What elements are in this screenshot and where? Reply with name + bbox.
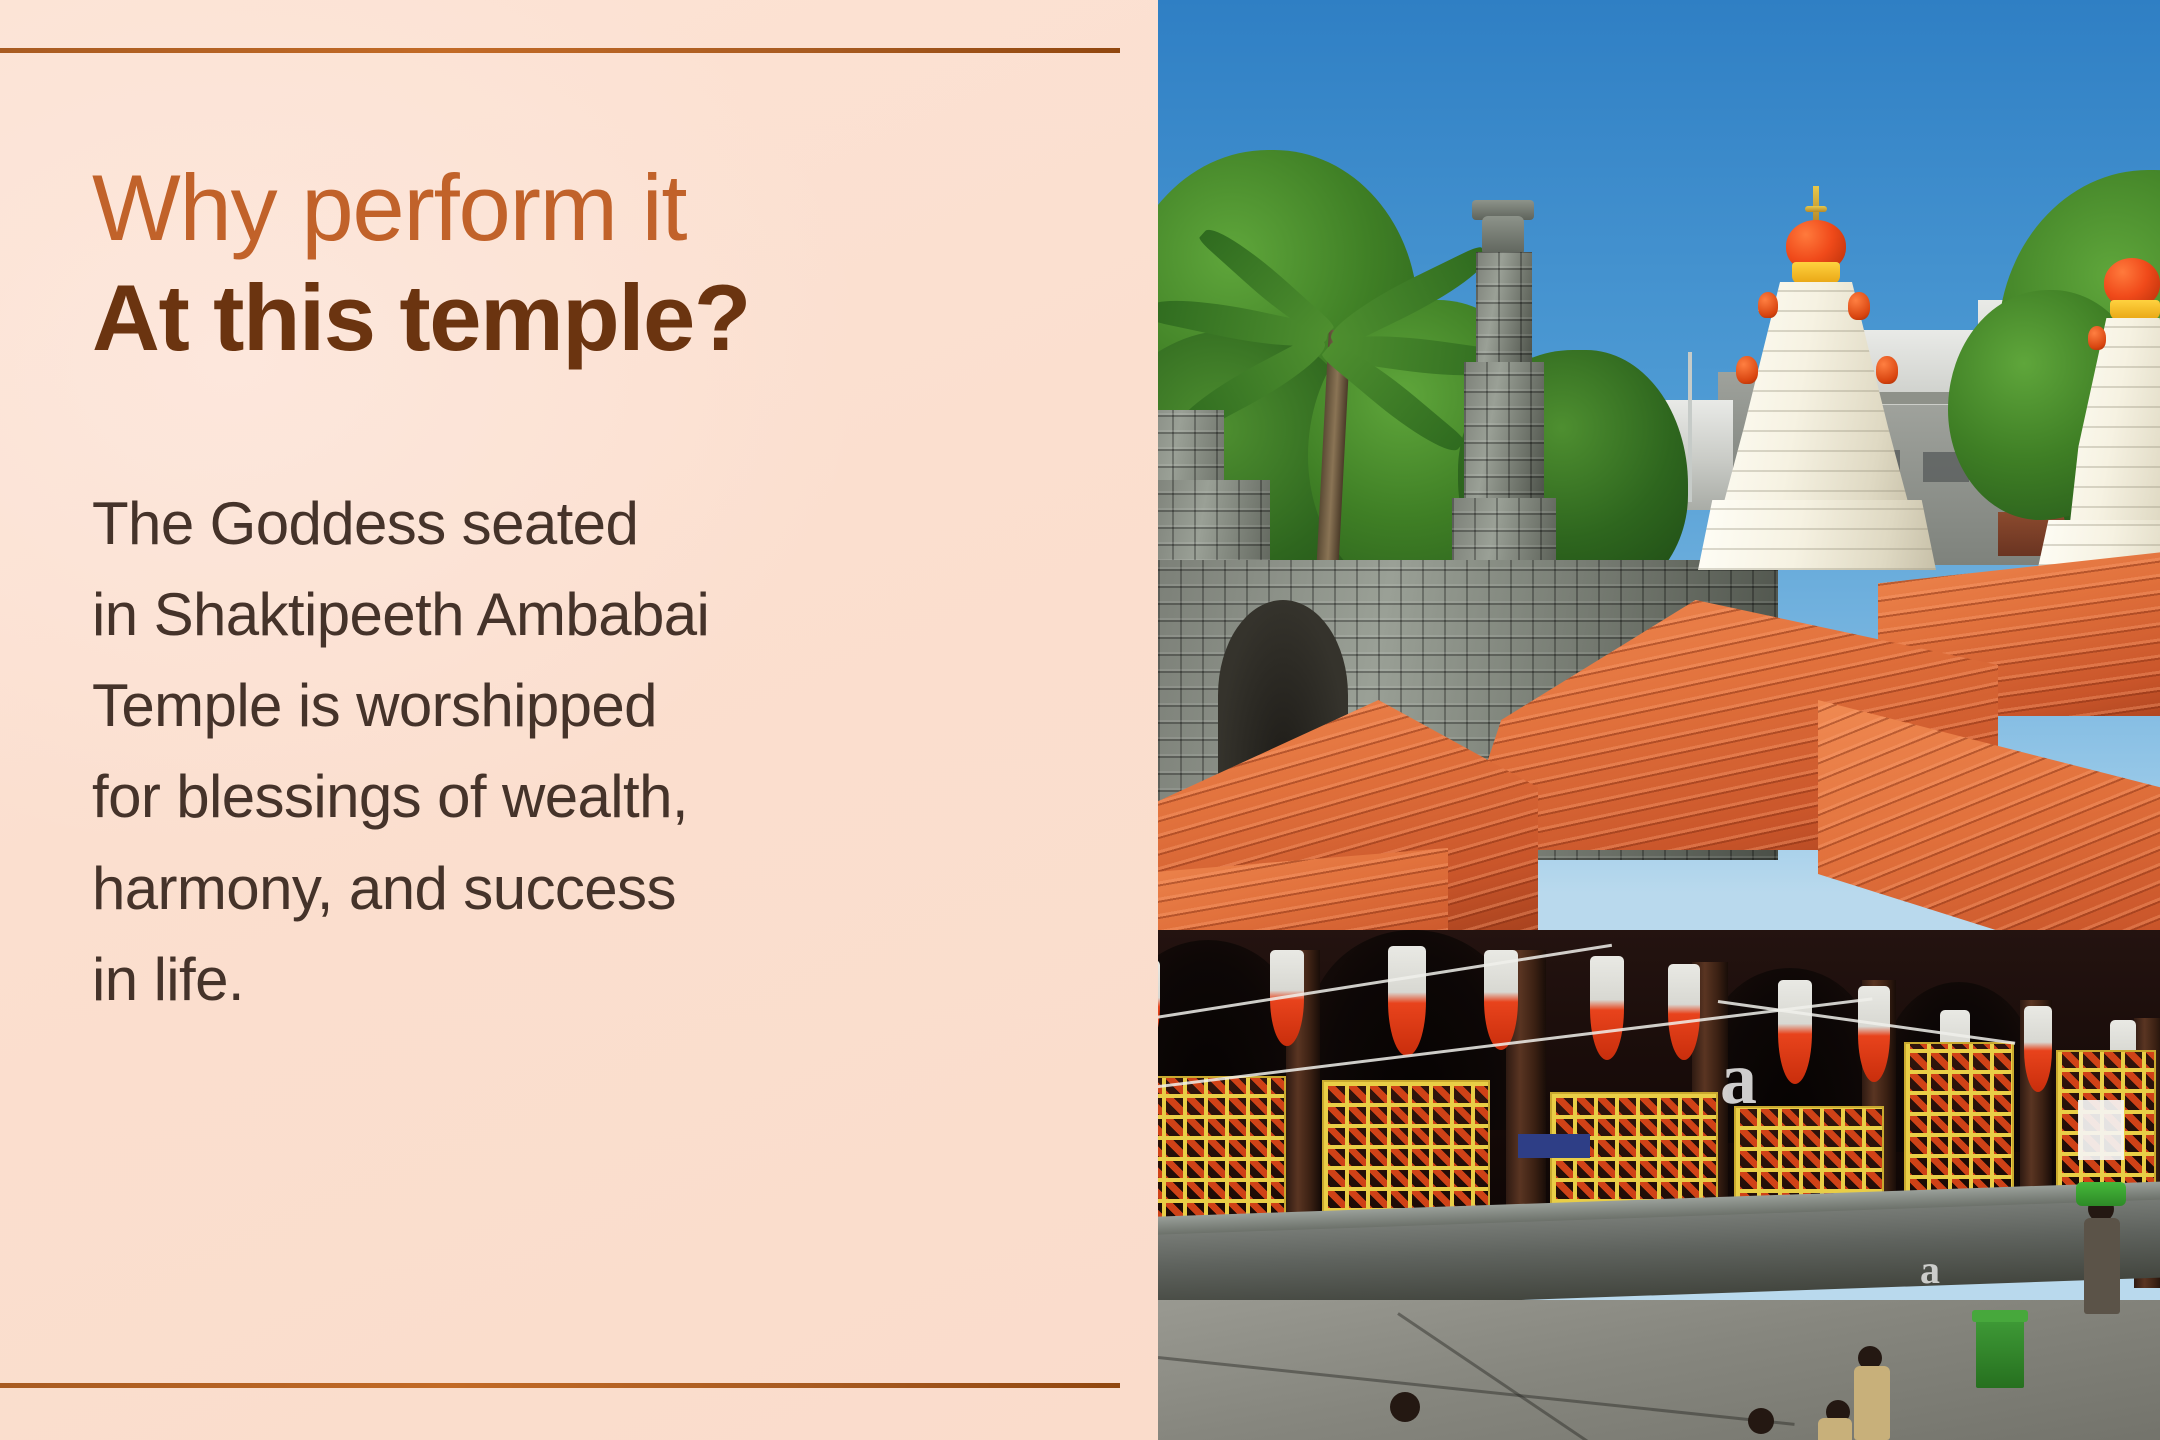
body-line: The Goddess seated — [92, 478, 1092, 569]
body-line: Temple is worshipped — [92, 660, 1092, 751]
waste-bin-lid — [1972, 1310, 2028, 1322]
lattice-grille — [1158, 1076, 1286, 1226]
person — [1818, 1418, 1852, 1440]
lattice-grille — [1904, 1042, 2014, 1202]
shikhara-corner-finial — [1758, 292, 1778, 318]
deepmala-pillar — [1476, 252, 1532, 372]
cloth-hanging — [1590, 956, 1624, 1060]
watermark-letter: a — [1720, 1042, 1757, 1116]
top-divider-rule — [0, 48, 1120, 53]
person — [1390, 1392, 1420, 1422]
shikhara-corner-finial — [1848, 292, 1870, 320]
deepmala-pillar — [1464, 362, 1544, 512]
shikhara-corner-finial — [1736, 356, 1758, 384]
cloth-hanging — [2024, 1006, 2052, 1092]
cloth-hanging — [1778, 980, 1812, 1084]
body-line: in Shaktipeeth Ambabai — [92, 569, 1092, 660]
heading-line-2: At this temple? — [92, 270, 1092, 366]
shikhara-kalash-band — [1792, 262, 1840, 284]
bottom-divider-rule — [0, 1383, 1120, 1388]
cloth-hanging — [1388, 946, 1426, 1056]
cloth-hanging — [1668, 964, 1700, 1060]
temple-photograph: a a — [1158, 0, 2160, 1440]
watermark-letter-small: a — [1920, 1246, 1940, 1293]
waste-bin — [1976, 1318, 2024, 1388]
body-line: harmony, and success — [92, 843, 1092, 934]
text-block: Why perform it At this temple? The Godde… — [92, 160, 1092, 1025]
slide-root: Why perform it At this temple? The Godde… — [0, 0, 2160, 1440]
left-text-panel: Why perform it At this temple? The Godde… — [0, 0, 1158, 1440]
pillar-finial — [1482, 216, 1524, 256]
shikhara-spire-disc — [1805, 206, 1827, 212]
person-headload — [2076, 1182, 2126, 1206]
heading-line-1: Why perform it — [92, 160, 1092, 256]
page-title: Why perform it At this temple? — [92, 160, 1092, 366]
person — [2084, 1218, 2120, 1314]
person — [1854, 1366, 1890, 1440]
body-line: in life. — [92, 934, 1092, 1025]
lamp-post — [1688, 352, 1692, 502]
secondary-shikhara-finial — [2088, 326, 2106, 350]
body-line: for blessings of wealth, — [92, 751, 1092, 842]
shikhara-base — [1698, 500, 1936, 570]
signboard — [1518, 1134, 1590, 1158]
body-paragraph: The Goddess seated in Shaktipeeth Ambaba… — [92, 478, 1092, 1025]
secondary-shikhara-band — [2110, 300, 2160, 320]
signboard — [2078, 1100, 2124, 1160]
shikhara-spire — [1813, 186, 1819, 222]
person — [1748, 1408, 1774, 1434]
shikhara-corner-finial — [1876, 356, 1898, 384]
